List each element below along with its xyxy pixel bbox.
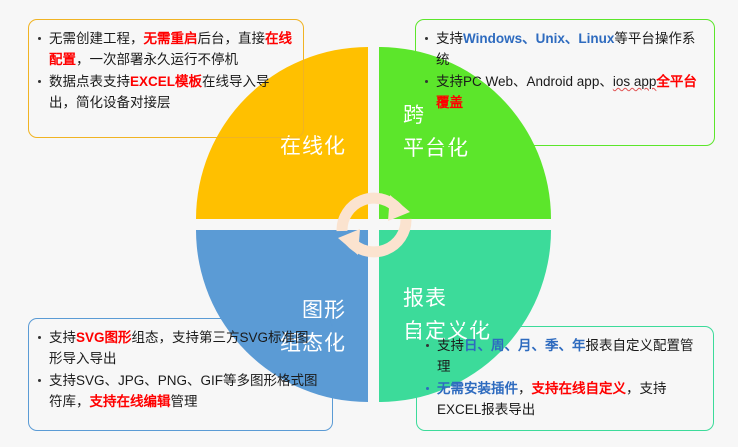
list-item: 支持Windows、Unix、Linux等平台操作系统 <box>424 29 704 70</box>
list-item: 支持SVG图形组态，支持第三方SVG标准图形导入导出 <box>37 328 322 369</box>
callout-bottom-left-list: 支持SVG图形组态，支持第三方SVG标准图形导入导出 支持SVG、JPG、PNG… <box>37 328 322 412</box>
bullet-text: 无需创建工程，无需重启后台，直接在线配置，一次部署永久运行不停机 <box>49 31 292 67</box>
list-item: 支持SVG、JPG、PNG、GIF等多图形格式图符库，支持在线编辑管理 <box>37 371 322 412</box>
callout-top-left: 无需创建工程，无需重启后台，直接在线配置，一次部署永久运行不停机 数据点表支持E… <box>28 19 304 138</box>
bullet-text: 支持SVG、JPG、PNG、GIF等多图形格式图符库，支持在线编辑管理 <box>49 373 318 409</box>
bullet-text: 支持Windows、Unix、Linux等平台操作系统 <box>436 31 695 67</box>
list-item: 数据点表支持EXCEL模板在线导入导出，简化设备对接层 <box>37 72 293 113</box>
bullet-text: 支持PC Web、Android app、ios app全平台覆盖 <box>436 74 697 110</box>
list-item: 无需安装插件，支持在线自定义，支持EXCEL报表导出 <box>425 379 703 420</box>
bullet-text: 支持日、周、月、季、年报表自定义配置管理 <box>437 338 694 374</box>
list-item: 支持PC Web、Android app、ios app全平台覆盖 <box>424 72 704 113</box>
callout-bottom-left: 支持SVG图形组态，支持第三方SVG标准图形导入导出 支持SVG、JPG、PNG… <box>28 318 333 431</box>
diagram-canvas: 在线化 跨 平台化 图形 组态化 报表 自定义化 无需创建工程，无需重启后台 <box>0 0 738 447</box>
quadrant-report-label-1: 报表 <box>403 283 447 316</box>
callout-bottom-right: 支持日、周、月、季、年报表自定义配置管理 无需安装插件，支持在线自定义，支持EX… <box>416 326 714 431</box>
bullet-text: 支持SVG图形组态，支持第三方SVG标准图形导入导出 <box>49 330 309 366</box>
bullet-text: 无需安装插件，支持在线自定义，支持EXCEL报表导出 <box>437 381 667 417</box>
callout-top-right-list: 支持Windows、Unix、Linux等平台操作系统 支持PC Web、And… <box>424 29 704 113</box>
list-item: 支持日、周、月、季、年报表自定义配置管理 <box>425 336 703 377</box>
list-item: 无需创建工程，无需重启后台，直接在线配置，一次部署永久运行不停机 <box>37 29 293 70</box>
callout-bottom-right-list: 支持日、周、月、季、年报表自定义配置管理 无需安装插件，支持在线自定义，支持EX… <box>425 336 703 420</box>
callout-top-right: 支持Windows、Unix、Linux等平台操作系统 支持PC Web、And… <box>415 19 715 146</box>
bullet-text: 数据点表支持EXCEL模板在线导入导出，简化设备对接层 <box>49 74 270 110</box>
callout-top-left-list: 无需创建工程，无需重启后台，直接在线配置，一次部署永久运行不停机 数据点表支持E… <box>37 29 293 113</box>
